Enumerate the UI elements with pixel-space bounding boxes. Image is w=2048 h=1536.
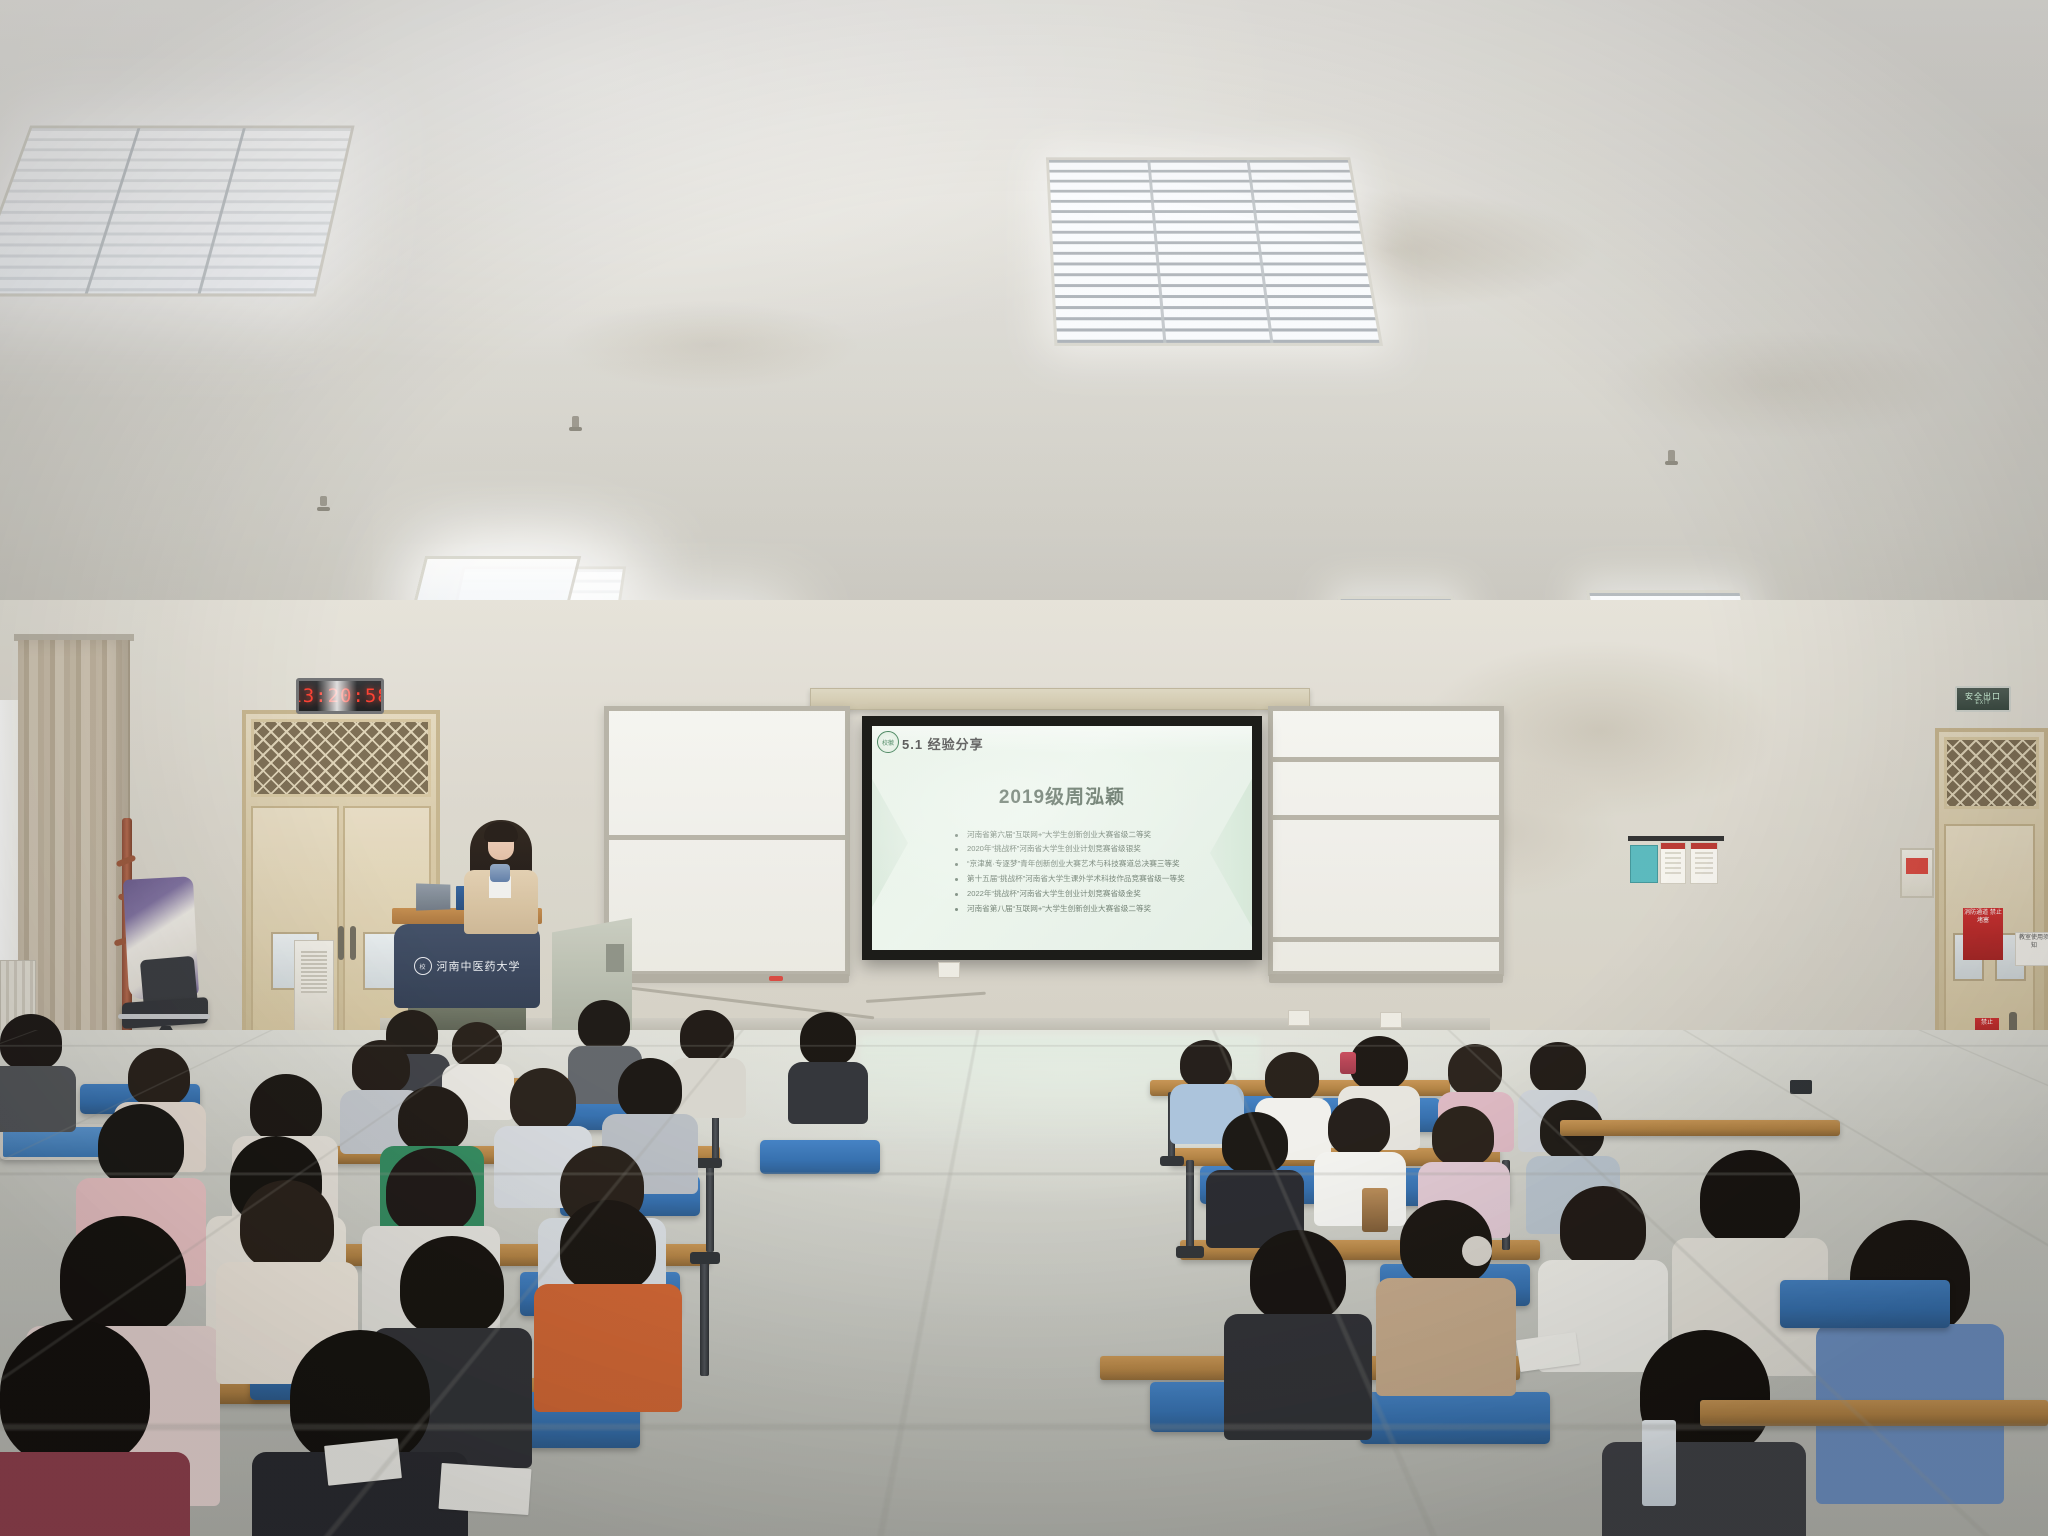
water-bottle — [1642, 1420, 1676, 1506]
handout-paper — [439, 1463, 532, 1515]
desk-foot — [1160, 1156, 1184, 1166]
slide-bullet: 2020年“挑战杯”河南省大学生创业计划竞赛省级银奖 — [954, 842, 1226, 857]
wall-outlet[interactable] — [1288, 1010, 1310, 1026]
wall-outlet[interactable] — [1380, 1012, 1402, 1028]
notice-board-rules — [1690, 842, 1718, 884]
ceiling-stain — [560, 300, 860, 390]
ceiling-light-panel — [1046, 157, 1383, 346]
slide-bullet: 河南省第六届“互联网+”大学生创新创业大赛省级二等奖 — [954, 828, 1226, 843]
exit-sign: 安全出口 EXIT — [1955, 686, 2011, 712]
slide-bullet: “京津冀·专逐梦”青年创新创业大赛艺术与科技赛道总决赛三等奖 — [954, 857, 1226, 872]
notice-board-schedule — [1660, 842, 1686, 884]
presenter-laptop[interactable] — [416, 883, 450, 910]
desk-post — [1186, 1160, 1194, 1250]
slide-bullet: 第十五届“挑战杯”河南省大学生课外学术科技作品竞赛省级一等奖 — [954, 872, 1226, 887]
beverage-cup — [1362, 1188, 1388, 1232]
door-handle[interactable] — [350, 926, 356, 960]
classroom-door-right[interactable]: 消防通道 禁止堵塞 教室使用须知 禁止 — [1935, 728, 2048, 1058]
desk-post — [706, 1160, 714, 1252]
slide-logo-text: 校徽 — [882, 738, 894, 747]
slide-title: 2019级周泓颖 — [872, 782, 1252, 809]
beverage-cup — [1340, 1052, 1356, 1074]
marker-tray — [605, 974, 849, 983]
desk-post — [700, 1258, 709, 1376]
wall-outlet[interactable] — [938, 962, 960, 978]
marker-tray — [1269, 974, 1503, 983]
lecture-hall-photo: 13:20:58 安全出口 EXIT 消防通道 禁止堵塞 教室使用须知 禁止 — [0, 0, 2048, 1536]
presenter-speaker — [458, 816, 544, 928]
whiteboard-marker[interactable] — [769, 976, 783, 981]
student-desk — [1560, 1120, 1840, 1136]
projection-screen-housing — [810, 688, 1310, 710]
whiteboard-left[interactable] — [604, 706, 850, 976]
ceiling-stain — [1600, 330, 1960, 440]
projection-screen: 校徽 5.1 经验分享 2019级周泓颖 河南省第六届“互联网+”大学生创新创业… — [862, 716, 1262, 960]
fire-sprinkler-icon — [1668, 450, 1675, 464]
smartphone[interactable] — [1790, 1080, 1812, 1094]
student-desk — [1700, 1400, 2048, 1426]
university-logo-icon: 校徽 — [877, 731, 899, 753]
whiteboard-right[interactable] — [1268, 706, 1504, 976]
floor-speaker — [294, 940, 334, 1032]
handout-paper — [324, 1438, 402, 1486]
door-notice-red: 消防通道 禁止堵塞 — [1963, 908, 2003, 960]
suspended-ceiling — [0, 0, 2048, 700]
lectern-logo-icon: 校 — [414, 957, 432, 975]
student-seat — [1780, 1280, 1950, 1328]
slide-bullet-list: 河南省第六届“互联网+”大学生创新创业大赛省级二等奖2020年“挑战杯”河南省大… — [914, 828, 1226, 917]
fire-sprinkler-icon — [572, 416, 579, 430]
fire-sprinkler-icon — [320, 496, 327, 506]
exit-sign-en: EXIT — [1975, 701, 1990, 706]
slide-section-label: 5.1 经验分享 — [902, 734, 984, 753]
ceiling-light-panel — [0, 126, 355, 297]
desk-foot — [1176, 1246, 1204, 1258]
door-notice-white: 教室使用须知 — [2015, 932, 2048, 966]
slide-bullet: 2022年“挑战杯”河南省大学生创业计划竞赛省级金奖 — [954, 887, 1226, 902]
door-transom-grille — [251, 719, 431, 797]
notice-board-teal — [1630, 845, 1658, 883]
lectern-logo-text: 校 — [419, 962, 425, 971]
lectern-brand-text: 河南中医药大学 — [437, 958, 521, 974]
fire-equipment-cabinet — [1900, 848, 1934, 898]
student-seat — [760, 1140, 880, 1174]
digital-wall-clock: 13:20:58 — [296, 678, 384, 714]
slide-bullet: 河南省第八届“互联网+”大学生创新创业大赛省级二等奖 — [954, 902, 1226, 917]
presentation-slide: 校徽 5.1 经验分享 2019级周泓颖 河南省第六届“互联网+”大学生创新创业… — [872, 726, 1252, 950]
desk-foot — [696, 1158, 722, 1168]
desk-foot — [690, 1252, 720, 1264]
notice-board-rail — [1628, 836, 1724, 841]
door-handle[interactable] — [338, 926, 344, 960]
lectern-front-panel: 校 河南中医药大学 — [394, 924, 540, 1008]
student-seat — [1360, 1392, 1550, 1444]
